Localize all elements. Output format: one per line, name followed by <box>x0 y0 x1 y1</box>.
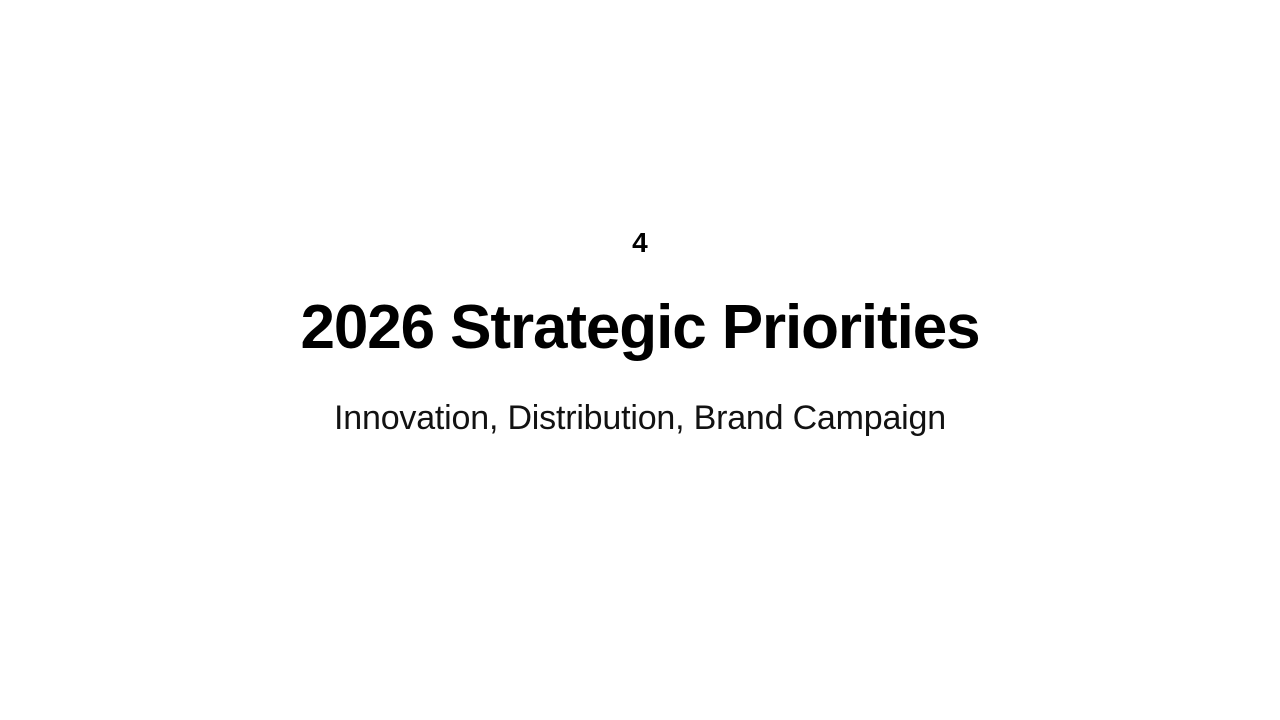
slide-content-group: 4 2026 Strategic Priorities Innovation, … <box>90 229 1190 440</box>
slide-canvas: 4 2026 Strategic Priorities Innovation, … <box>0 0 1280 720</box>
slide-number-eyebrow: 4 <box>632 229 648 257</box>
slide-title: 2026 Strategic Priorities <box>301 257 980 361</box>
slide-subtitle: Innovation, Distribution, Brand Campaign <box>334 360 946 439</box>
